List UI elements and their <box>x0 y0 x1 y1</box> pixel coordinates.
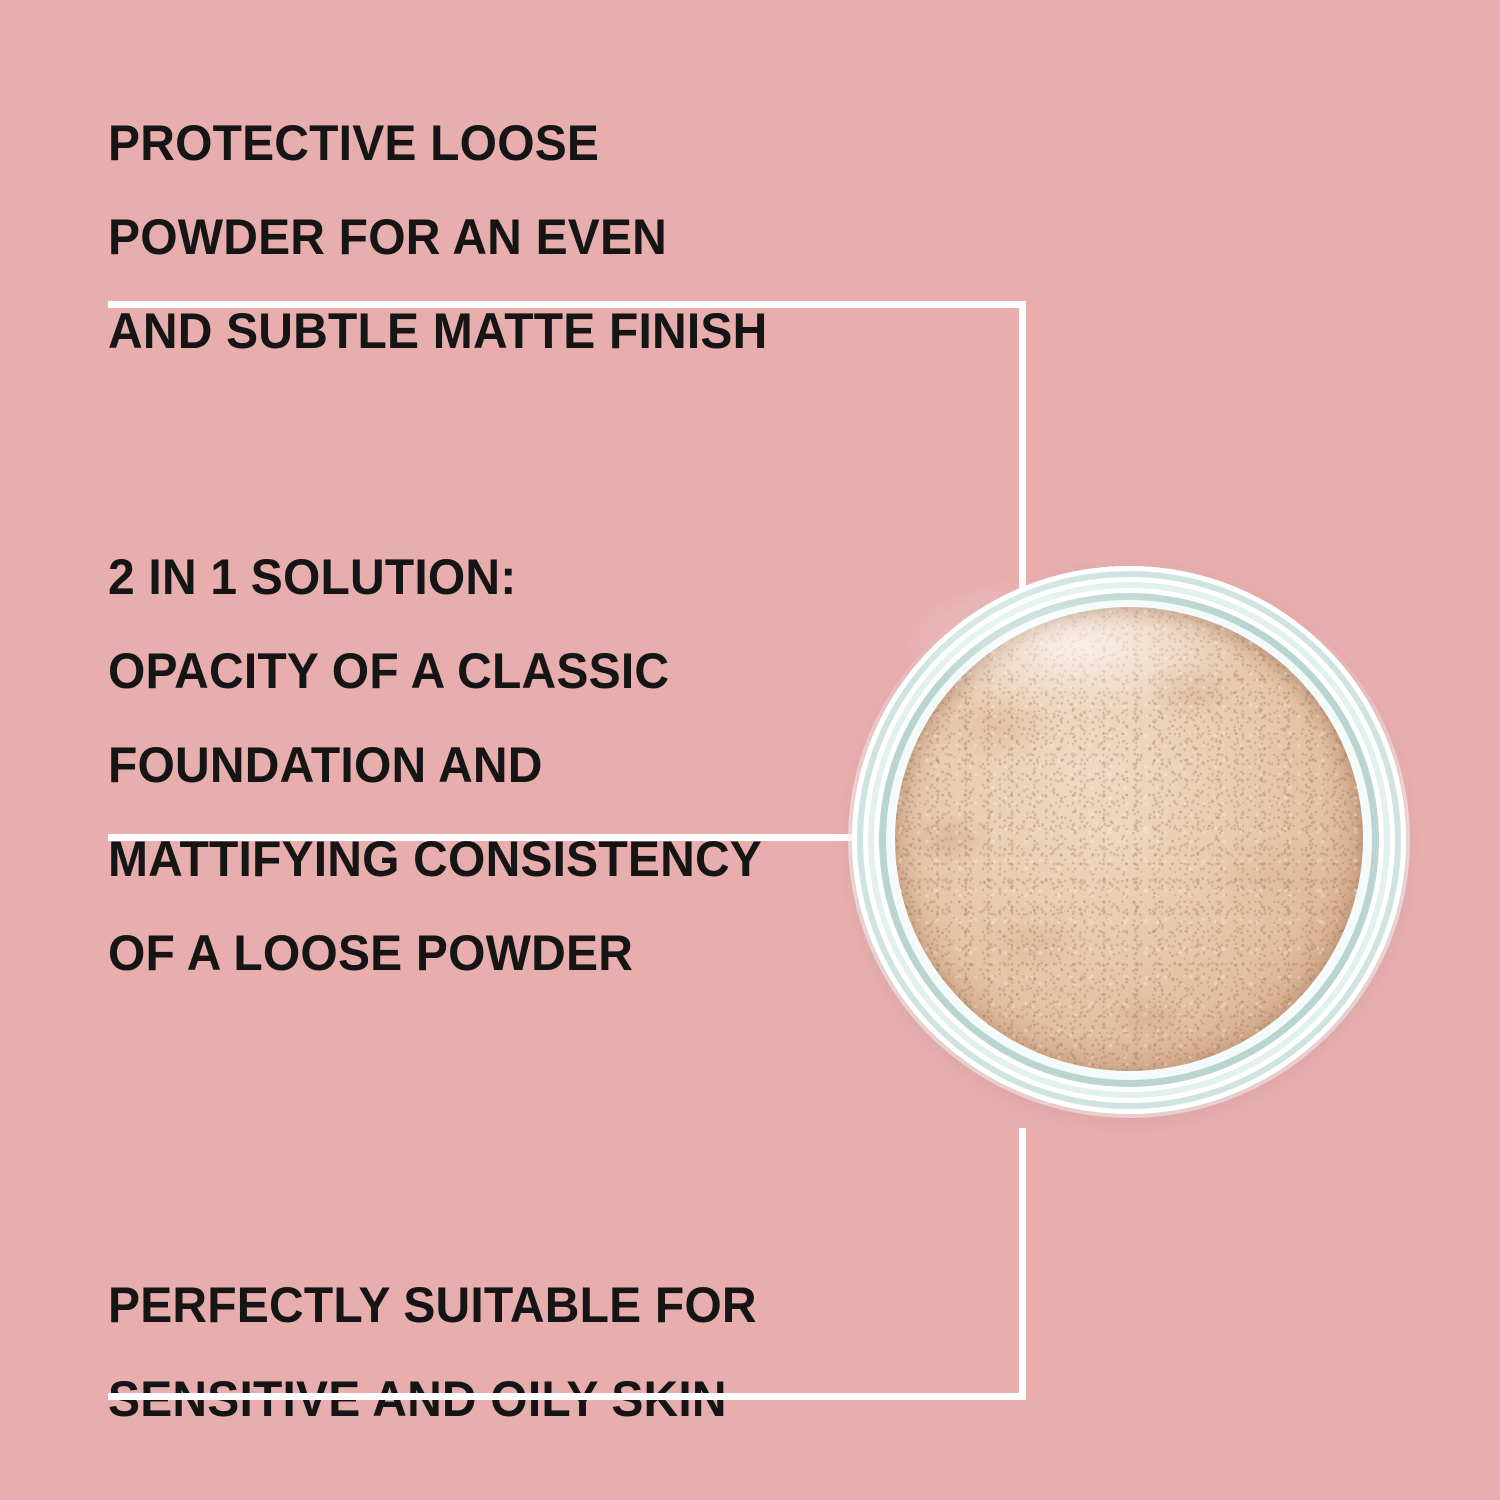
headline-block-top: PROTECTIVE LOOSE POWDER FOR AN EVEN AND … <box>108 78 795 396</box>
headline-line: 2 IN 1 SOLUTION: <box>108 548 762 606</box>
headline-line: PERFECTLY SUITABLE FOR <box>108 1276 757 1334</box>
jar-glass-highlight <box>904 573 1252 718</box>
headline-line: OPACITY OF A CLASSIC <box>108 642 762 700</box>
divider-line-vertical-lower <box>1019 1128 1026 1400</box>
headline-line: PROTECTIVE LOOSE <box>108 114 768 172</box>
divider-line-bottom-horizontal <box>108 1393 1026 1400</box>
headline-block-middle: 2 IN 1 SOLUTION: OPACITY OF A CLASSIC FO… <box>108 512 789 1018</box>
headline-line: AND SUBTLE MATTE FINISH <box>108 302 768 360</box>
divider-line-middle-horizontal <box>108 834 858 841</box>
headline-line: POWDER FOR AN EVEN <box>108 208 768 266</box>
headline-line: FOUNDATION AND <box>108 736 762 794</box>
headline-block-bottom: PERFECTLY SUITABLE FOR SENSITIVE AND OIL… <box>108 1240 784 1464</box>
headline-line: OF A LOOSE POWDER <box>108 924 762 982</box>
powder-jar-image <box>848 562 1410 1118</box>
product-feature-banner: PROTECTIVE LOOSE POWDER FOR AN EVEN AND … <box>0 0 1500 1500</box>
divider-line-top-horizontal <box>108 301 1026 308</box>
